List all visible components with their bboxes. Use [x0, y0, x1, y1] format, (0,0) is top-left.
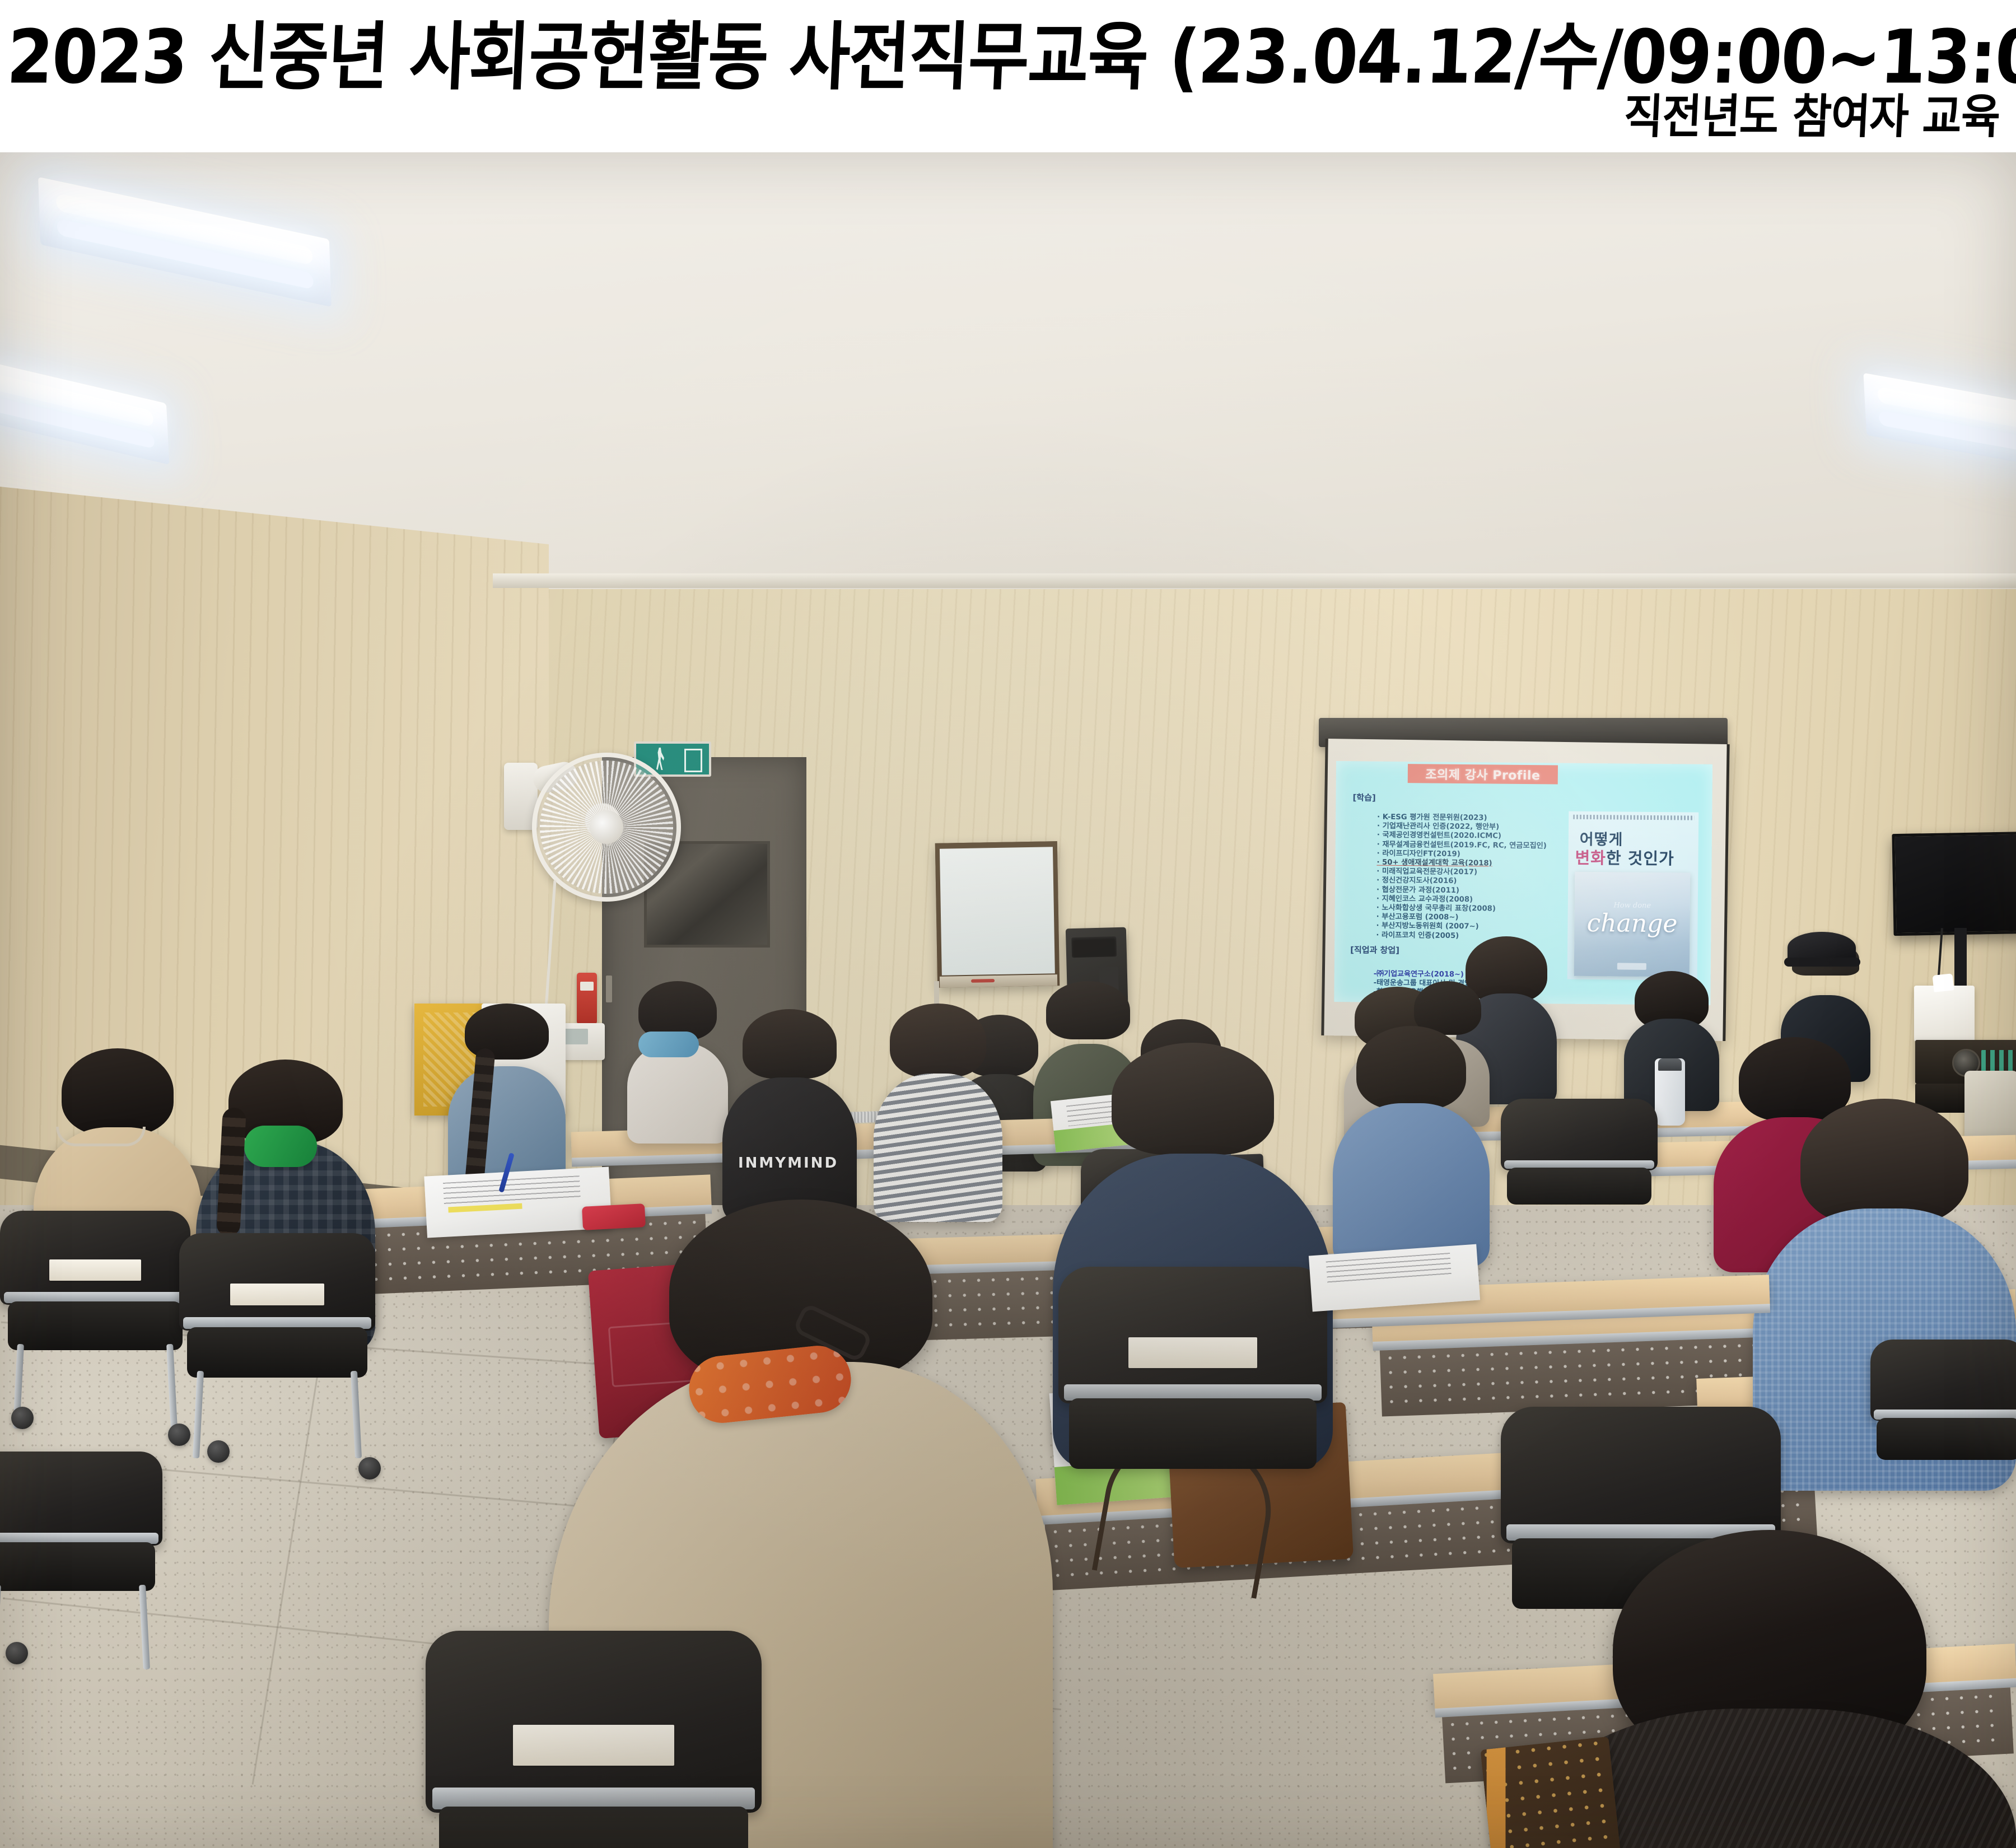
chair[interactable]	[1870, 1340, 2016, 1480]
chair-caster	[168, 1424, 190, 1446]
chair-label	[1128, 1337, 1257, 1368]
jacket-logo-text: INMYMIND	[738, 1155, 838, 1172]
course-booklet	[1309, 1244, 1480, 1312]
slide-title: 조의제 강사 Profile	[1425, 764, 1540, 783]
page-subtitle: 직전년도 참여자 교육	[1622, 78, 2001, 146]
participant-striped	[874, 1004, 1002, 1222]
chair[interactable]	[179, 1233, 375, 1401]
chair-caster	[6, 1642, 28, 1664]
chair-label	[230, 1284, 324, 1305]
chair[interactable]	[426, 1631, 762, 1848]
cap-brim-icon	[1784, 958, 1860, 967]
participant-blue-blazer	[1333, 1026, 1490, 1267]
tumbler	[1655, 1058, 1685, 1126]
chair-label	[49, 1259, 141, 1281]
chair-caster	[358, 1457, 381, 1480]
chair-caster	[11, 1407, 34, 1429]
slide-book-graphic: 어떻게 변화한 것인가 How done change	[1567, 811, 1699, 981]
marker-icon	[971, 979, 995, 983]
chair[interactable]	[0, 1211, 190, 1373]
book-cover: How done change	[1574, 872, 1691, 977]
wall-monitor	[1892, 832, 2016, 936]
book-line-2: 변화한 것인가	[1575, 845, 1674, 870]
blue-scarf	[638, 1032, 699, 1057]
fire-alarm-icon[interactable]	[577, 973, 597, 1024]
whiteboard	[935, 841, 1060, 988]
chair-label	[513, 1725, 674, 1766]
slide-title-bar: 조의제 강사 Profile	[1408, 764, 1558, 784]
amplifier-buttons[interactable]	[1981, 1050, 2016, 1074]
chair-caster	[207, 1440, 230, 1463]
slide-section-2: [직업과 창업]	[1350, 944, 1399, 956]
chair[interactable]	[1058, 1267, 1327, 1502]
door-hinge-icon	[606, 976, 612, 1002]
slide-credentials-list: · K-ESG 평가원 전문위원(2023) · 기업재난관리사 인증(2022…	[1354, 813, 1562, 941]
green-scarf	[244, 1126, 317, 1167]
necklace-icon	[56, 1127, 146, 1146]
book-line-2-a: 변화	[1575, 848, 1606, 867]
chair[interactable]	[1501, 1099, 1658, 1222]
book-line-2-b: 한 것인가	[1606, 848, 1674, 868]
screenshot-page: 2023 신중년 사회공헌활동 사전직무교육 (23.04.12/수/09:00…	[0, 0, 2016, 1848]
tissue-box	[1914, 986, 1975, 1042]
book-cover-title: change	[1586, 909, 1677, 938]
monitor-arm	[1954, 928, 1967, 995]
slide-section-1: [학습]	[1352, 791, 1375, 803]
chair[interactable]	[0, 1452, 162, 1614]
monogram-handbag	[1480, 1737, 1627, 1848]
wall-trim	[493, 573, 2016, 588]
caption-band: 2023 신중년 사회공헌활동 사전직무교육 (23.04.12/수/09:00…	[0, 0, 2016, 152]
classroom-photo: 조의제 강사 Profile [학습] · K-ESG 평가원 전문위원(202…	[0, 152, 2016, 1848]
participant-inmymind	[722, 1009, 857, 1222]
thermostat-panel[interactable]	[560, 1023, 605, 1060]
participant	[627, 981, 728, 1144]
